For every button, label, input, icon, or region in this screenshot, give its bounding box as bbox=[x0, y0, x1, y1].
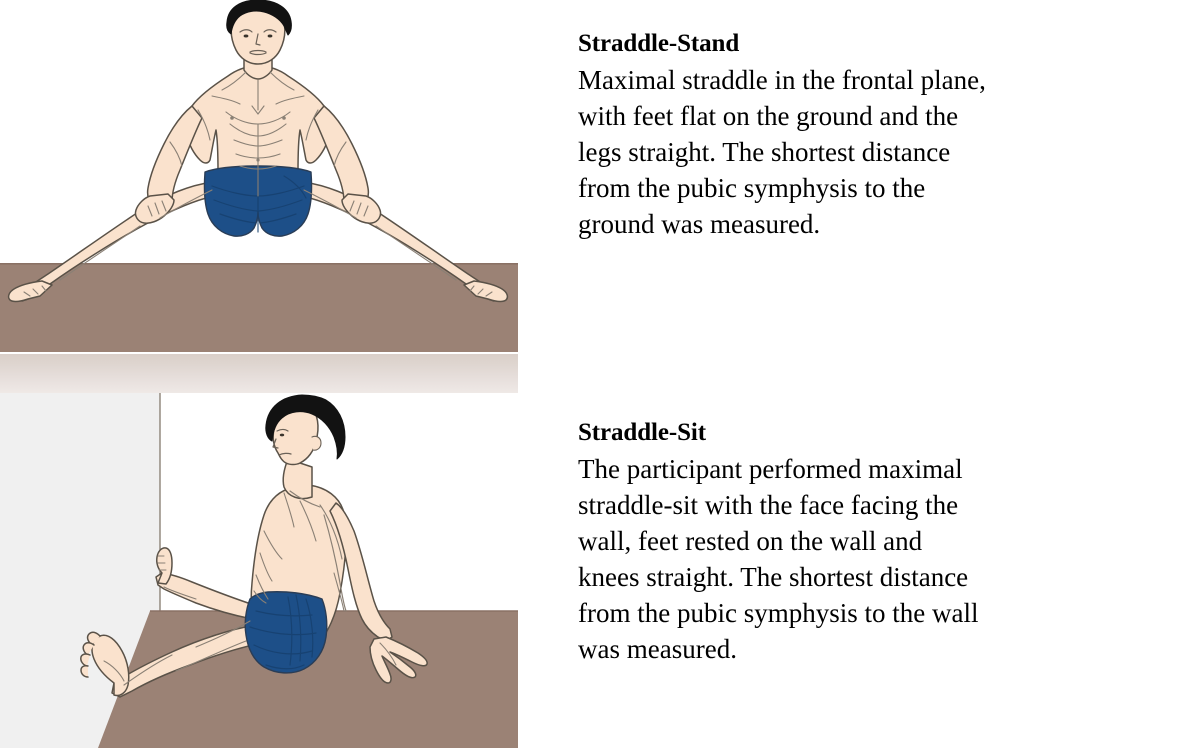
illustration-panel-straddle-stand bbox=[0, 0, 518, 352]
caption-straddle-sit: Straddle-Sit The participant performed m… bbox=[578, 417, 1178, 667]
caption-title-straddle-stand: Straddle-Stand bbox=[578, 28, 1178, 60]
standing-straddle-figure-illustration bbox=[0, 0, 518, 352]
panel-divider-band bbox=[0, 352, 518, 393]
caption-title-straddle-sit: Straddle-Sit bbox=[578, 417, 1178, 449]
figure-page: Straddle-Stand Maximal straddle in the f… bbox=[0, 0, 1200, 748]
caption-body-straddle-sit: The participant performed maximal stradd… bbox=[578, 451, 1158, 667]
caption-straddle-stand: Straddle-Stand Maximal straddle in the f… bbox=[578, 28, 1178, 242]
caption-body-straddle-stand: Maximal straddle in the frontal plane, w… bbox=[578, 62, 1158, 242]
floor-surface bbox=[0, 263, 518, 352]
seated-straddle-figure-illustration bbox=[0, 393, 518, 748]
shorts bbox=[245, 592, 327, 673]
illustration-panel-straddle-sit bbox=[0, 393, 518, 748]
